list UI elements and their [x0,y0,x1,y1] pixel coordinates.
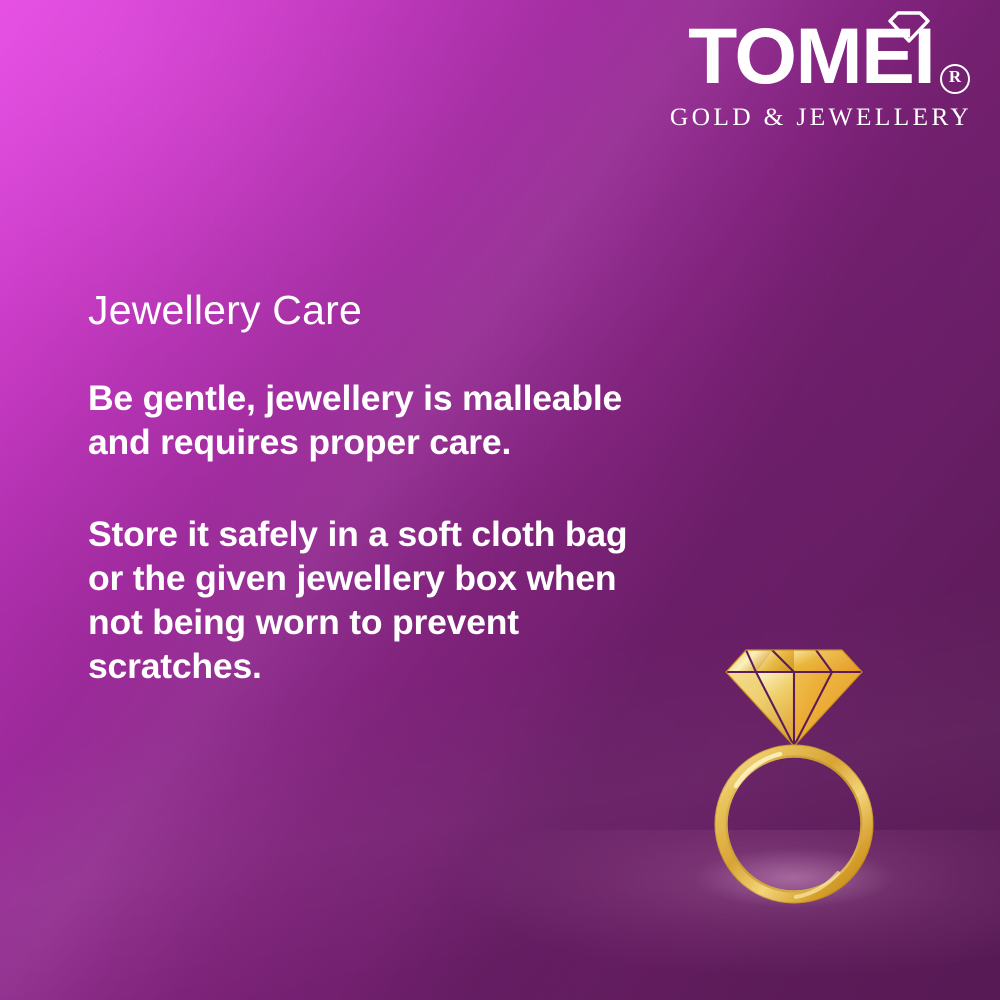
diamond-ring-illustration [688,628,898,918]
care-paragraph-2: Store it safely in a soft cloth bag or t… [88,512,668,688]
care-paragraph-1: Be gentle, jewellery is malleable and re… [88,376,668,464]
brand-tagline: GOLD & JEWELLERY [648,102,978,132]
poster-canvas: TOMEI R GOLD & JEWELLERY Jewellery Care … [0,0,1000,1000]
brand-wordmark-row: TOMEI R [648,8,978,106]
registered-trademark-icon: R [940,64,970,94]
brand-logo: TOMEI R GOLD & JEWELLERY [648,8,978,132]
diamond-gem-icon [726,650,862,746]
message-block: Jewellery Care Be gentle, jewellery is m… [88,286,668,688]
brand-wordmark-text: TOMEI [688,10,934,102]
page-title: Jewellery Care [88,286,668,334]
